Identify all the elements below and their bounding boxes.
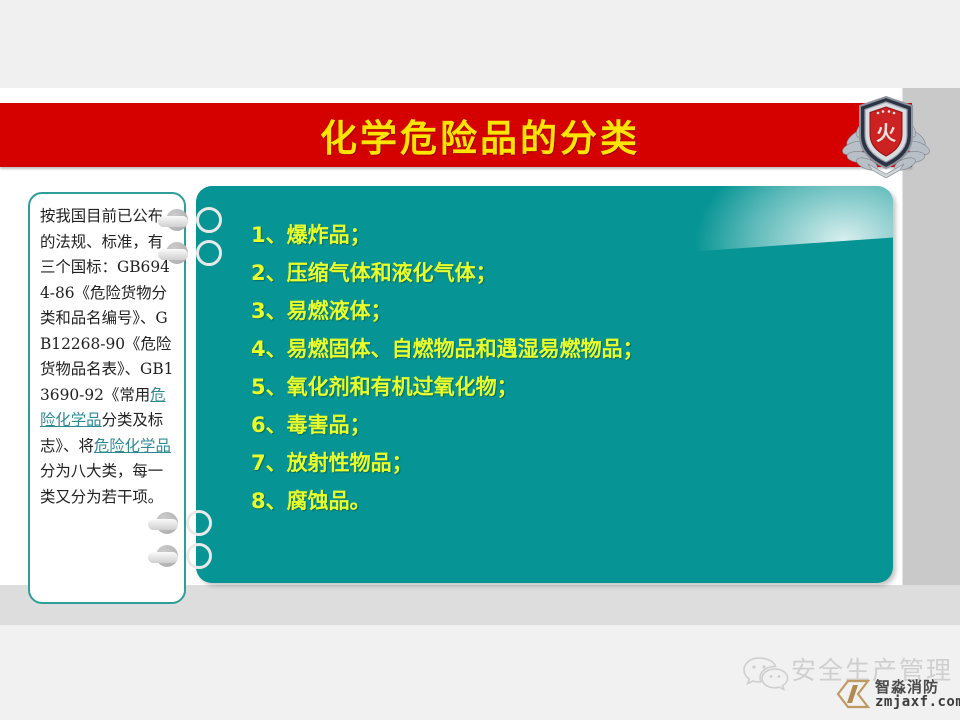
binder-ring-tab <box>148 552 178 563</box>
watermark-url: zmjaxf.com <box>875 694 960 710</box>
note-card-text: 按我国目前已公布的法规、标准，有三个国标：GB6944-86《危险货物分类和品名… <box>40 204 176 510</box>
watermark: 安全生产管理 智淼消防 zmjaxf.com <box>735 645 960 715</box>
slide-canvas: 化学危险品的分类 <box>0 88 960 625</box>
list-item: 8、腐蚀品。 <box>251 482 883 520</box>
note-link-hazardous-chemicals-2[interactable]: 危险化学品 <box>94 437 171 455</box>
title-banner: 化学危险品的分类 <box>0 103 912 167</box>
screenshot-root: 化学危险品的分类 <box>0 0 960 720</box>
binder-ring <box>196 207 222 233</box>
binder-ring <box>186 543 212 569</box>
list-item: 4、易燃固体、自燃物品和遇湿易燃物品； <box>251 330 883 368</box>
note-segment-0: 按我国目前已公布的法规、标准，有三个国标：GB6944-86《危险货物分类和品名… <box>40 207 173 404</box>
binder-ring-tab <box>148 519 178 530</box>
classification-panel: 1、爆炸品； 2、压缩气体和液化气体； 3、易燃液体； 4、易燃固体、自燃物品和… <box>196 186 893 583</box>
wechat-icon <box>743 655 789 691</box>
emblem-glyph: 火 <box>876 121 897 145</box>
zhimiao-logo-icon <box>835 677 871 711</box>
list-item: 1、爆炸品； <box>251 216 883 254</box>
binder-ring <box>186 510 212 536</box>
list-item: 2、压缩气体和液化气体； <box>251 254 883 292</box>
note-segment-4: 分为八大类，每一类又分为若干项。 <box>40 462 163 506</box>
binder-ring-tab <box>158 216 188 227</box>
top-background-strip <box>0 0 960 88</box>
classification-list: 1、爆炸品； 2、压缩气体和液化气体； 3、易燃液体； 4、易燃固体、自燃物品和… <box>251 216 883 520</box>
page-title: 化学危险品的分类 <box>320 108 640 162</box>
list-item: 6、毒害品； <box>251 406 883 444</box>
list-item: 5、氧化剂和有机过氧化物； <box>251 368 883 406</box>
binder-ring <box>196 240 222 266</box>
binder-ring-tab <box>158 249 188 260</box>
fire-department-badge-icon: 火 <box>838 90 934 178</box>
list-item: 3、易燃液体； <box>251 292 883 330</box>
list-item: 7、放射性物品； <box>251 444 883 482</box>
